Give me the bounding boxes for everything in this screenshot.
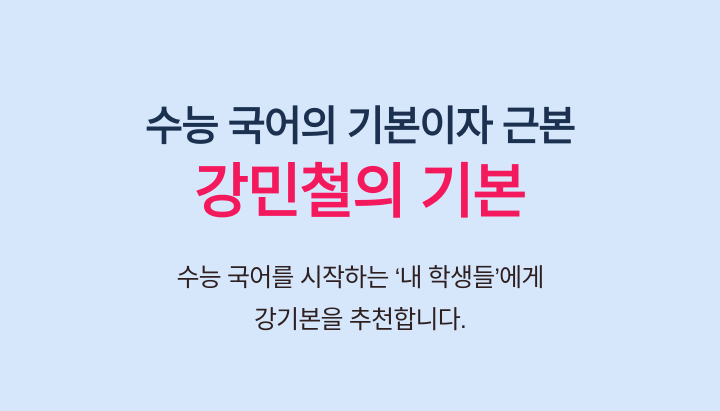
banner-subcopy-line-1: 수능 국어를 시작하는 ‘내 학생들’에게	[176, 257, 543, 299]
banner-subcopy-line-2: 강기본을 추천합니다.	[176, 299, 543, 341]
banner-headline: 강민철의 기본	[195, 160, 526, 225]
banner-eyebrow: 수능 국어의 기본이자 근본	[145, 104, 575, 150]
promo-banner: 수능 국어의 기본이자 근본 강민철의 기본 수능 국어를 시작하는 ‘내 학생…	[0, 0, 720, 411]
banner-subcopy: 수능 국어를 시작하는 ‘내 학생들’에게 강기본을 추천합니다.	[176, 257, 543, 341]
banner-content: 수능 국어의 기본이자 근본 강민철의 기본 수능 국어를 시작하는 ‘내 학생…	[0, 0, 720, 341]
